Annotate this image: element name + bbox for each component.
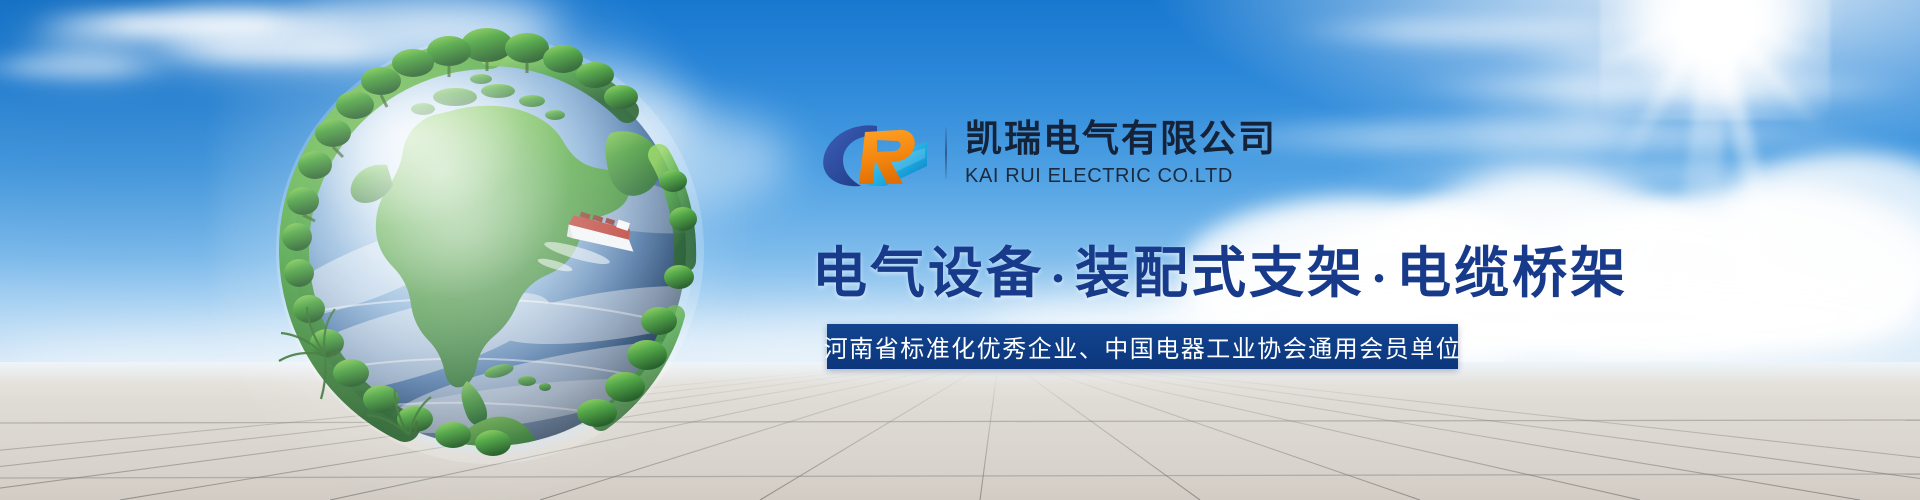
headline-separator-1: ·	[1044, 251, 1075, 305]
earth-globe-illustration	[255, 15, 725, 485]
brand-logo-block[interactable]: 凯瑞电气有限公司 KAI RUI ELECTRIC CO.LTD	[815, 118, 1277, 188]
headline-segment-1: 电气设备	[812, 240, 1044, 305]
cr-monogram-logo-icon	[815, 118, 933, 188]
page-title: 电气设备·装配式支架·电缆桥架	[812, 228, 1628, 308]
company-name-en: KAI RUI ELECTRIC CO.LTD	[965, 164, 1277, 188]
status-badge-label: 河南省标准化优秀企业、中国电器工业协会通用会员单位	[824, 329, 1462, 364]
hero-banner: 凯瑞电气有限公司 KAI RUI ELECTRIC CO.LTD 电气设备·装配…	[0, 0, 1920, 500]
logo-divider	[945, 127, 947, 179]
headline-separator-2: ·	[1365, 251, 1396, 305]
status-badge: 河南省标准化优秀企业、中国电器工业协会通用会员单位	[827, 324, 1458, 369]
headline-segment-3: 电缆桥架	[1396, 240, 1628, 305]
company-name-cn: 凯瑞电气有限公司	[965, 118, 1277, 159]
headline-segment-2: 装配式支架	[1075, 240, 1365, 305]
